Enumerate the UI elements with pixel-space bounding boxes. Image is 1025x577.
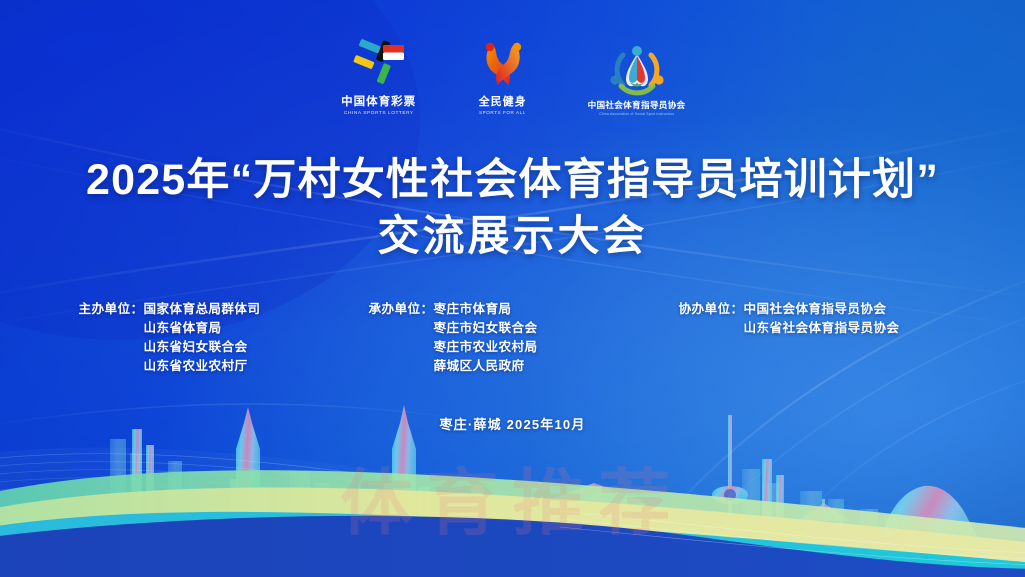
organizer-line: 山东省农业农村厅 xyxy=(63,357,363,376)
china-sports-lottery-logo-icon xyxy=(340,38,418,90)
city-skyline-scene xyxy=(0,387,1025,577)
title-line-1: 2025年“万村女性社会体育指导员培训计划” xyxy=(0,152,1025,208)
organizer-line: 主办单位：国家体育总局群体司 xyxy=(63,300,363,319)
event-poster: 中国体育彩票 CHINA SPORTS LOTTERY xyxy=(0,0,1025,577)
page-title: 2025年“万村女性社会体育指导员培训计划” 交流展示大会 xyxy=(0,152,1025,264)
organizer-line: 山东省社会体育指导员协会 xyxy=(663,319,963,338)
organizer-supporter: 协办单位：中国社会体育指导员协会 山东省社会体育指导员协会 xyxy=(663,300,963,376)
logo-sports-for-all: 全民健身 SPORTS FOR ALL xyxy=(472,38,534,116)
organizer-columns: 主办单位：国家体育总局群体司 山东省体育局 山东省妇女联合会 山东省农业农村厅 … xyxy=(0,300,1025,376)
logo-china-sports-lottery: 中国体育彩票 CHINA SPORTS LOTTERY xyxy=(340,38,418,116)
logo-label-cn: 中国社会体育指导员协会 xyxy=(588,99,686,111)
organizer-line: 枣庄市农业农村局 xyxy=(363,338,663,357)
logo-social-sports-instructors: 中国社会体育指导员协会 China Association of Social … xyxy=(588,42,686,116)
organizer-line: 协办单位：中国社会体育指导员协会 xyxy=(663,300,963,319)
organizer-line: 山东省妇女联合会 xyxy=(63,338,363,357)
organizer-co-host: 承办单位：枣庄市体育局 枣庄市妇女联合会 枣庄市农业农村局 薛城区人民政府 xyxy=(363,300,663,376)
logo-label-cn: 全民健身 xyxy=(479,93,527,109)
organizer-line: 山东省体育局 xyxy=(63,319,363,338)
logo-label-cn: 中国体育彩票 xyxy=(341,93,416,109)
logo-label-en: CHINA SPORTS LOTTERY xyxy=(344,110,414,116)
sponsor-logo-row: 中国体育彩票 CHINA SPORTS LOTTERY xyxy=(0,38,1025,116)
logo-label-en: China Association of Social Sport Instru… xyxy=(599,112,674,116)
china-social-sport-instructors-logo-icon xyxy=(601,42,673,96)
organizer-host: 主办单位：国家体育总局群体司 山东省体育局 山东省妇女联合会 山东省农业农村厅 xyxy=(63,300,363,376)
organizer-line: 承办单位：枣庄市体育局 xyxy=(363,300,663,319)
organizer-line: 薛城区人民政府 xyxy=(363,357,663,376)
title-line-2: 交流展示大会 xyxy=(0,208,1025,264)
sports-for-all-logo-icon xyxy=(472,38,534,90)
organizer-line: 枣庄市妇女联合会 xyxy=(363,319,663,338)
logo-label-en: SPORTS FOR ALL xyxy=(479,110,526,116)
skyline-svg xyxy=(0,387,1025,577)
